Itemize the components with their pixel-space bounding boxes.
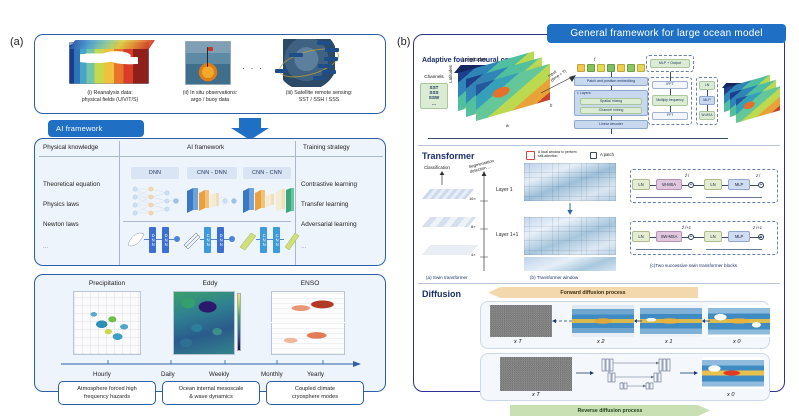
transformer-window-layer1plus1-row2 xyxy=(524,257,616,271)
diffusion-section-title: Diffusion xyxy=(422,289,461,299)
forward-x1-text: x 1 xyxy=(665,339,672,345)
layer-1plus1-label: Layer 1+1 xyxy=(496,232,518,238)
physical-knowledge-item-3: ... xyxy=(43,243,48,250)
row1-residual xyxy=(636,197,692,198)
l-layers-label: L Layers xyxy=(577,92,591,96)
afno-conn-4 xyxy=(611,129,612,134)
token-4 xyxy=(617,64,625,72)
source-caption-insitu: (ii) In situ observations: argo / buoy d… xyxy=(159,90,261,104)
physical-knowledge-item-1: Physics laws xyxy=(43,201,79,208)
app-caption-eddy: Ocean internal mesoscale & wave dynamics xyxy=(162,381,260,405)
ai-framework-tab[interactable]: AI framework xyxy=(48,120,144,137)
row2-conn-c xyxy=(694,237,704,238)
row1-zhat-label: ẑ l xyxy=(685,173,689,178)
pipeline-output-3 xyxy=(284,229,300,251)
unet-diagram-icon xyxy=(596,355,676,393)
forward-noise-image xyxy=(490,305,552,337)
dnn-node-graph xyxy=(129,185,181,217)
local-window-legend-label: A local window to perform self-attention xyxy=(538,151,582,159)
transformer-window-layer1-subgrid xyxy=(524,163,616,201)
freq-conn-1 xyxy=(670,89,671,95)
panel-b: Adaptive fourier neural operators SST SS… xyxy=(413,34,785,392)
divider-left xyxy=(119,141,120,265)
divider-header xyxy=(39,156,383,157)
app-caption-precipitation: Atmosphere forced high frequency hazards xyxy=(58,381,156,405)
reverse-x0-label: x 0 xyxy=(727,392,734,398)
physical-knowledge-item-2: Newton laws xyxy=(43,221,79,228)
panel-a-letter: (a) xyxy=(10,36,23,48)
physical-knowledge-item-0: Theoretical equation xyxy=(43,181,100,188)
row2-z-label: z l+1 xyxy=(753,225,762,230)
transformer-section-title: Transformer xyxy=(422,151,475,161)
afno-conn-3 xyxy=(611,116,612,120)
source-caption-reanalysis: (i) Reanalysis data: physical fields (U/… xyxy=(57,90,163,104)
row2-ln-2: LN xyxy=(704,231,722,242)
linear-decoder-block: Linear decoder xyxy=(574,120,648,129)
segmentation-axis-icon xyxy=(480,171,488,271)
pipeline-input-2 xyxy=(183,229,201,251)
patch-position-embedding-block: Patch and position embedding xyxy=(574,77,648,86)
down-arrow-icon xyxy=(230,118,270,140)
pipeline-block-cnn-1: CNN xyxy=(204,227,211,253)
satellite-tag-8 xyxy=(313,76,326,80)
panel-b-title: General framework for large ocean model xyxy=(547,24,786,43)
timeline-axis xyxy=(61,360,361,370)
satellite-tag-4 xyxy=(324,57,338,61)
insitu-line2: argo / buoy data xyxy=(159,97,261,104)
output-ocean-cube-stack xyxy=(722,83,780,135)
panel-b-letter: (b) xyxy=(397,36,410,48)
window-shift-arrow-icon xyxy=(566,203,574,215)
precipitation-map xyxy=(73,291,141,355)
token-6 xyxy=(637,64,645,72)
reverse-xT-label: x T xyxy=(532,392,540,398)
source-caption-satellite: (iii) Satellite remote sensing: SST / SS… xyxy=(257,90,381,104)
pipeline-block-cnn-2: CNN xyxy=(260,227,267,253)
forward-xT-text: x T xyxy=(514,339,522,345)
row2-swmsa: SW-MSA xyxy=(656,231,682,242)
forward-x2-map xyxy=(572,305,634,337)
reverse-diffusion-band: Reverse diffusion process xyxy=(510,405,710,416)
swin-grid-level-8x xyxy=(422,217,476,227)
forward-xT-label: x T xyxy=(514,339,522,345)
tick-weekly: Weekly xyxy=(209,371,229,378)
input-ocean-cube-stack: h w xyxy=(454,63,552,125)
tick-hourly: Hourly xyxy=(93,371,111,378)
pipeline-block-cnn-3: CNN xyxy=(273,227,280,253)
row2-residual-2 xyxy=(706,249,762,250)
satellite-line1: (iii) Satellite remote sensing: xyxy=(257,90,381,97)
buoy-flag xyxy=(208,47,213,51)
pipeline-block-dnn-1: DNN xyxy=(149,227,156,253)
insitu-line1: (ii) In situ observations: xyxy=(159,90,261,97)
training-strategy-item-3: ... xyxy=(301,243,306,250)
enso-map xyxy=(271,291,345,355)
reanalysis-line1: (i) Reanalysis data: xyxy=(57,90,163,97)
cube-w-label: w xyxy=(506,123,509,128)
enso-map-divider xyxy=(271,322,345,323)
local-window-legend-swatch xyxy=(526,151,535,160)
forward-diffusion-band: Forward diffusion process xyxy=(488,287,698,298)
row2-residual xyxy=(636,249,692,250)
tick-daily: Daily xyxy=(161,371,175,378)
row1-ln-2: LN xyxy=(704,179,722,190)
row2-mlp: MLP xyxy=(728,231,750,242)
reverse-xT-text: x T xyxy=(532,392,540,398)
forward-arrow-2 xyxy=(634,317,642,325)
channel-mixing-block: Channel mixing xyxy=(580,107,642,114)
side-mlp-block: MLP xyxy=(699,96,715,105)
scale-16x-label: 16× xyxy=(469,196,476,201)
satellite-tag-6 xyxy=(322,70,336,74)
satellite-tag-5 xyxy=(318,64,332,68)
row1-mlp: MLP xyxy=(728,179,750,190)
side-conn-1 xyxy=(707,90,708,96)
channel-more: ... xyxy=(432,102,436,107)
patch-legend-label: A patch xyxy=(600,153,614,158)
app-title-eddy: Eddy xyxy=(167,280,253,287)
forward-x0-map xyxy=(708,305,770,337)
reverse-arrow-out xyxy=(680,369,698,377)
training-strategy-item-0: Contrastive learning xyxy=(301,181,357,188)
reverse-arrow-in xyxy=(576,369,594,377)
forward-x2-text: x 2 xyxy=(597,339,604,345)
caption-transformer-window: (b) Transformer window xyxy=(530,275,578,280)
divider-pipeline xyxy=(123,221,291,222)
reverse-x0-text: x 0 xyxy=(727,392,734,398)
applications-box: Precipitation Eddy ENSO Hourly D xyxy=(34,274,386,392)
classification-arrow-icon xyxy=(438,171,446,185)
afno-conn-1 xyxy=(611,72,612,77)
app-title-enso: ENSO xyxy=(267,280,353,287)
row1-add-2: + xyxy=(758,182,764,188)
tick-yearly: Yearly xyxy=(307,371,324,378)
row1-ln-1: LN xyxy=(632,179,650,190)
pipeline-output-dot-1 xyxy=(174,236,180,242)
app-title-precipitation: Precipitation xyxy=(59,280,155,287)
row2-ln-1: LN xyxy=(632,231,650,242)
col-header-ai-framework: AI framework xyxy=(187,144,224,151)
tick-monthly: Monthly xyxy=(261,371,283,378)
freq-conn-2 xyxy=(670,106,671,112)
row1-conn-c xyxy=(694,185,704,186)
satellite-tag-1 xyxy=(317,41,331,45)
side-wmsa-block: W-MSA xyxy=(699,111,715,120)
freq-conn-3 xyxy=(670,72,671,81)
afno-conn-2 xyxy=(611,86,612,90)
row1-conn-d xyxy=(722,185,728,186)
col-header-training-strategy: Training strategy xyxy=(303,144,350,151)
row1-conn-b xyxy=(682,185,688,186)
classification-label: Classification xyxy=(424,165,450,170)
swin-grid-level-4x xyxy=(422,245,478,255)
pipeline-input-1 xyxy=(127,227,145,253)
forward-x0-label: x 0 xyxy=(733,339,740,345)
row1-wmsa: W-MSA xyxy=(656,179,682,190)
forward-x0-text: x 0 xyxy=(733,339,740,345)
spatial-mixing-block: Spatial mixing xyxy=(580,98,642,105)
forward-x1-label: x 1 xyxy=(665,339,672,345)
side-ln-block: LN xyxy=(699,81,715,90)
eddy-colorbar xyxy=(237,293,241,351)
satellite-tag-2 xyxy=(325,48,339,52)
satellite-tag-7 xyxy=(275,69,288,73)
row1-residual-2 xyxy=(706,197,762,198)
row1-z-label: z l xyxy=(756,173,760,178)
model-chip-cnn-dnn: CNN - DNN xyxy=(187,167,237,179)
row2-zhat-label: ẑ l+1 xyxy=(682,225,691,230)
latitudes-axis-label: Latitudes xyxy=(448,65,453,83)
pipeline-block-dnn-3: DNN xyxy=(217,227,224,253)
forward-arrow-1 xyxy=(702,317,710,325)
model-chip-dnn: DNN xyxy=(131,167,179,179)
row2-conn-e xyxy=(750,237,762,238)
swin-grid-level-16x xyxy=(422,189,474,199)
token-f-label: f xyxy=(594,57,595,62)
ai-framework-box: Physical knowledge AI framework Training… xyxy=(34,138,386,266)
transformer-diffusion-divider xyxy=(418,283,780,284)
token-3 xyxy=(607,64,615,72)
ifft-block: IFFT xyxy=(652,81,688,89)
token-1 xyxy=(587,64,595,72)
reanalysis-thumbnail-top xyxy=(69,40,155,49)
satellite-line2: SST / SSH / SSS xyxy=(257,97,381,104)
caption-two-successive-swin-blocks: (c)Two successive swin transformer block… xyxy=(650,263,737,268)
multiply-frequency-block: Multiply frequency xyxy=(652,95,688,106)
training-strategy-item-1: Transfer learning xyxy=(301,201,348,208)
row2-conn-a xyxy=(650,237,656,238)
cube-h-label: h xyxy=(550,103,552,108)
model-chip-cnn-cnn: CNN - CNN xyxy=(243,167,291,179)
figure-root: (a) · · · (i xyxy=(0,0,799,403)
col-header-physical-knowledge: Physical knowledge xyxy=(43,144,98,151)
training-strategy-item-2: Adversarial learning xyxy=(301,221,357,228)
token-0 xyxy=(577,64,585,72)
afno-bottom-connector xyxy=(428,138,728,139)
row2-conn-d xyxy=(722,237,728,238)
forward-x1-map xyxy=(640,305,702,337)
mlp-output-dashbox xyxy=(646,55,694,72)
scale-8x-label: 8× xyxy=(471,224,476,229)
patch-legend-swatch xyxy=(590,152,597,159)
channels-box: SST SSS SSW ... xyxy=(420,83,448,109)
transformer-window-layer1plus1-subgrid xyxy=(524,217,616,255)
row2-conn-b xyxy=(682,237,688,238)
reverse-x0-map xyxy=(702,357,764,389)
cnn-dnn-schematic xyxy=(185,185,239,217)
token-5 xyxy=(627,64,635,72)
cnn-cnn-schematic xyxy=(241,185,295,217)
row1-conn-a xyxy=(650,185,656,186)
eddy-map xyxy=(173,291,235,355)
forward-x2-label: x 2 xyxy=(597,339,604,345)
reverse-noise-image xyxy=(500,357,572,391)
app-caption-enso: Coupled climate cryosphere modes xyxy=(266,381,364,405)
side-conn-2 xyxy=(707,105,708,111)
forward-arrow-3-dashed xyxy=(552,317,572,325)
pipeline-block-dnn-2: DNN xyxy=(162,227,169,253)
fft-block: FFT xyxy=(652,112,688,120)
pipeline-output-dot-2 xyxy=(229,236,235,242)
token-2 xyxy=(597,64,605,72)
input-arrow-icon xyxy=(540,73,578,95)
data-sources-box: · · · (i) Reanalysis data: physical fiel… xyxy=(34,34,386,114)
satellite-tag-3 xyxy=(289,53,303,57)
pipeline-input-3 xyxy=(239,229,257,251)
reanalysis-line2: physical fields (U/V/T/S) xyxy=(57,97,163,104)
panel-a: · · · (i) Reanalysis data: physical fiel… xyxy=(34,34,386,392)
row1-conn-e xyxy=(750,185,758,186)
caption-swin-transformer: (a) Swin transformer xyxy=(426,275,468,280)
layer-1-label: Layer 1 xyxy=(496,187,513,193)
sources-ellipsis: · · · xyxy=(242,63,264,73)
reanalysis-continent-mask xyxy=(80,51,138,67)
afno-transformer-divider xyxy=(418,145,780,146)
